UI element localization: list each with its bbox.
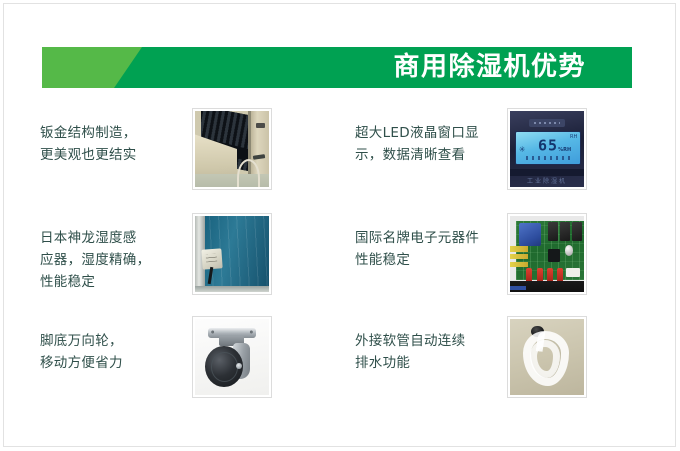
- sheet-metal-panel-photo: [195, 111, 269, 187]
- led-control-panel-photo: RH ✳ 65 %RH 工业除湿机: [510, 111, 584, 187]
- infographic-page: 商用除湿机优势 钣金结构制造， 更美观也更结实: [0, 0, 680, 451]
- panel-dark-strip: [510, 169, 584, 177]
- lcd-humidity-value: 65: [538, 139, 558, 154]
- red-terminal-shape: [547, 268, 553, 282]
- feature-item-led-display: 超大LED液晶窗口显 示，数据清晰查看 RH ✳ 65 %RH 工业除湿机: [355, 108, 645, 208]
- caption-line: 性能稳定: [355, 249, 507, 271]
- caption-line: 外接软管自动连续: [355, 330, 507, 352]
- snowflake-icon: ✳: [519, 146, 526, 154]
- caption-line: 应器，湿度精确，: [40, 249, 192, 271]
- caption-line: 脚底万向轮，: [40, 330, 192, 352]
- lcd-screen: RH ✳ 65 %RH: [515, 131, 581, 165]
- metal-rail-shape: [195, 286, 269, 292]
- swivel-caster-wheel-photo: [195, 319, 269, 395]
- caption-line: 国际名牌电子元器件: [355, 227, 507, 249]
- feature-image-frame-humidity-sensor: [192, 213, 272, 295]
- feature-image-frame-sheet-metal: [192, 108, 272, 190]
- panel-label-strip: [529, 119, 565, 127]
- lcd-segment-row: [526, 156, 569, 159]
- relay-shape: [548, 222, 558, 241]
- banner-diagonal-accent: [42, 47, 142, 88]
- caption-line: 性能稳定: [40, 271, 192, 293]
- yellow-connector-shape: [510, 262, 528, 267]
- wheel-rim-shape: [211, 352, 238, 381]
- lcd-corner-label: RH: [570, 134, 577, 140]
- feature-caption-led-display: 超大LED液晶窗口显 示，数据清晰查看: [355, 108, 507, 166]
- red-terminal-shape: [557, 268, 563, 282]
- mounting-holes-shape: [209, 330, 255, 335]
- relay-shape: [560, 222, 570, 241]
- caption-line: 排水功能: [355, 352, 507, 374]
- sensor-module-shape: [201, 248, 222, 269]
- feature-image-frame-led-display: RH ✳ 65 %RH 工业除湿机: [507, 108, 587, 190]
- panel-brand-text: 工业除湿机: [510, 176, 584, 185]
- caption-line: 更美观也更结实: [40, 144, 192, 166]
- capacitor-shape: [565, 245, 573, 256]
- drain-hose-photo: [510, 319, 584, 395]
- blue-wire-shape: [510, 286, 526, 291]
- header-banner: 商用除湿机优势: [42, 47, 632, 88]
- red-terminal-shape: [537, 268, 543, 282]
- feature-item-caster-wheels: 脚底万向轮， 移动方便省力: [40, 316, 330, 416]
- caption-line: 日本神龙湿度感: [40, 227, 192, 249]
- ic-chip-shape: [548, 249, 559, 261]
- transformer-shape: [519, 223, 541, 246]
- yellow-connector-shape: [510, 254, 528, 259]
- feature-item-sheet-metal: 钣金结构制造， 更美观也更结实: [40, 108, 330, 208]
- yellow-connector-shape: [510, 246, 528, 251]
- red-terminal-shape: [526, 268, 532, 282]
- circuit-board-photo: [510, 216, 584, 292]
- feature-item-electronic-components: 国际名牌电子元器件 性能稳定: [355, 213, 645, 313]
- white-connector-shape: [566, 268, 579, 276]
- feature-image-frame-caster-wheels: [192, 316, 272, 398]
- caption-line: 示，数据清晰查看: [355, 144, 507, 166]
- relay-shape: [572, 222, 582, 241]
- caption-line: 移动方便省力: [40, 352, 192, 374]
- feature-caption-electronic-components: 国际名牌电子元器件 性能稳定: [355, 213, 507, 271]
- feature-caption-caster-wheels: 脚底万向轮， 移动方便省力: [40, 316, 192, 374]
- feature-image-frame-electronic-components: [507, 213, 587, 295]
- feature-caption-drain-hose: 外接软管自动连续 排水功能: [355, 316, 507, 374]
- page-title: 商用除湿机优势: [393, 47, 586, 88]
- feature-item-humidity-sensor: 日本神龙湿度感 应器，湿度精确， 性能稳定: [40, 213, 330, 313]
- lcd-humidity-unit: %RH: [558, 148, 571, 153]
- feature-caption-humidity-sensor: 日本神龙湿度感 应器，湿度精确， 性能稳定: [40, 213, 192, 293]
- bracket-shape: [256, 123, 265, 128]
- feature-grid: 钣金结构制造， 更美观也更结实 超大LED液晶: [0, 100, 680, 420]
- hose-tail-shape: [535, 331, 551, 352]
- feature-caption-sheet-metal: 钣金结构制造， 更美观也更结实: [40, 108, 192, 166]
- caption-line: 钣金结构制造，: [40, 122, 192, 144]
- feature-item-drain-hose: 外接软管自动连续 排水功能: [355, 316, 645, 416]
- caption-line: 超大LED液晶窗口显: [355, 122, 507, 144]
- humidity-sensor-on-coil-photo: [195, 216, 269, 292]
- feature-image-frame-drain-hose: [507, 316, 587, 398]
